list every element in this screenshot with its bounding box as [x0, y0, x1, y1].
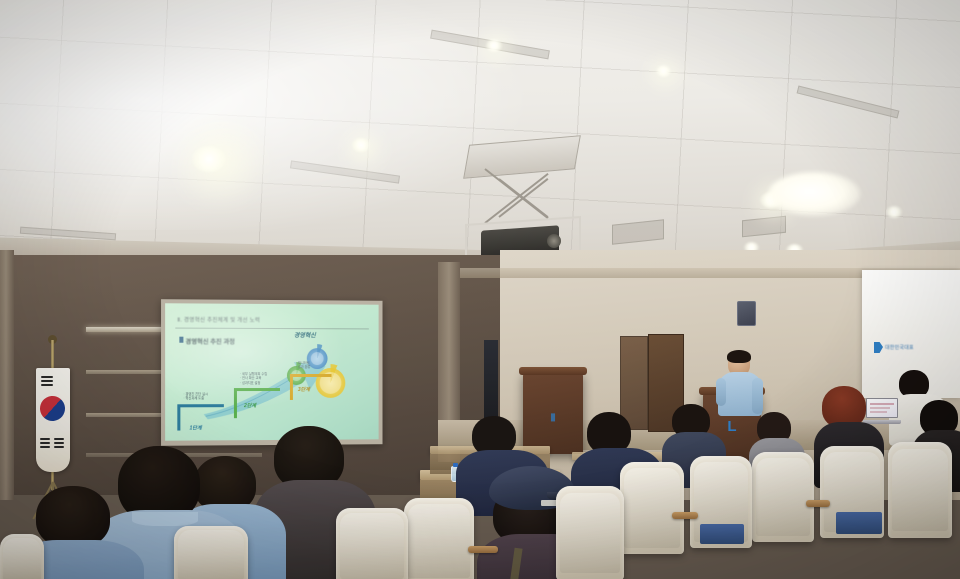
presenter-hair: [727, 350, 751, 363]
armrest-mid-left: [468, 546, 498, 553]
side-podium: ▮: [523, 372, 583, 454]
downlight-center-left: [352, 138, 370, 152]
chair-back-right-3[interactable]: [888, 442, 952, 538]
attendee-cap-label: [541, 500, 557, 506]
trigram-5: [40, 442, 50, 444]
laptop[interactable]: [866, 398, 898, 424]
downlight-left: [192, 146, 226, 172]
seminar-room-photo: 대한민국대표 Ⅱ. 경영혁신 추진체계 및 개선 노력 경영혁신 추진 과정: [0, 0, 960, 579]
downlight-edge-right: [886, 206, 902, 218]
armrest-right-1: [806, 500, 830, 507]
projector-scissor-lift: [485, 168, 561, 224]
presenter-arm-left: [716, 378, 726, 406]
armrest-mid-1: [672, 512, 698, 519]
chair-front-3[interactable]: [336, 508, 408, 579]
wall-column-left: [0, 250, 14, 500]
trigram-2: [41, 380, 53, 382]
trigram-6: [40, 446, 50, 448]
taeguk-symbol-icon: [36, 392, 69, 426]
trigram-7: [54, 438, 64, 440]
banner-logo: 대한민국대표: [874, 342, 914, 353]
laptop-screen: [866, 398, 898, 418]
side-podium-top: [519, 367, 587, 375]
chair-front-1[interactable]: [0, 534, 44, 579]
projection-screen-surface: Ⅱ. 경영혁신 추진체계 및 개선 노력 경영혁신 추진 과정 경영혁신: [165, 303, 379, 440]
screen-light-glare: [165, 303, 379, 440]
oval-ceiling-light: [768, 172, 860, 216]
trigram-4: [40, 438, 50, 440]
chair-mid-left-2[interactable]: [556, 486, 624, 579]
banner-logo-mark-icon: [874, 342, 883, 353]
chair-mid-left-1[interactable]: [404, 498, 474, 579]
trigram-8: [54, 442, 64, 444]
trigram-3: [41, 384, 53, 386]
banner-logo-text: 대한민국대표: [885, 344, 914, 351]
downlight-center: [486, 39, 502, 52]
projection-screen: Ⅱ. 경영혁신 추진체계 및 개선 노력 경영혁신 추진 과정 경영혁신: [161, 299, 382, 446]
projector-lens: [547, 234, 561, 248]
presenter-arm-right: [752, 378, 763, 414]
seat-cushion-right: [836, 512, 882, 534]
downlight-upper-right: [656, 65, 671, 77]
speaker-podium-logo: L: [727, 418, 736, 435]
ceiling-projector: [455, 140, 595, 260]
chair-back-right-1[interactable]: [752, 452, 814, 542]
flag-cloth: [36, 368, 70, 472]
attendee-center-front-collar: [132, 512, 198, 526]
rear-door-right[interactable]: [620, 336, 648, 430]
chair-mid-right-1[interactable]: [620, 462, 684, 554]
attendee-blue-shirt-front-left-head: [36, 486, 110, 548]
trigram-1: [41, 376, 53, 378]
side-podium-logo: ▮: [550, 412, 556, 423]
wall-speaker: [737, 301, 756, 326]
trigram-9: [54, 446, 64, 448]
chair-front-2[interactable]: [174, 526, 248, 579]
seat-cushion-mid: [700, 524, 744, 544]
